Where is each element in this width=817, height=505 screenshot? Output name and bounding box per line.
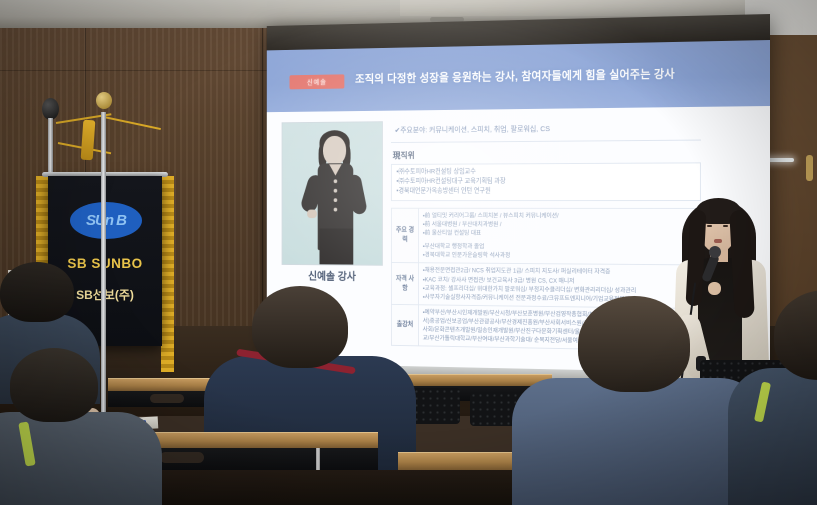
current-position-box: ▪㈜수토피아HR컨설팅 상임교수 ▪㈜수토피아HR컨설팅대구 교육기획팀 과장 … xyxy=(391,162,701,200)
table-row: 주요 경력 ▪前 얼티밋 커리어그룹/ 스피치본 / 뷰스피치 커뮤니케이션/ … xyxy=(391,208,700,265)
audience-head xyxy=(578,296,690,392)
audience-head xyxy=(252,286,348,368)
audience-member xyxy=(752,290,817,505)
portrait-face xyxy=(323,136,346,165)
presenter-eye xyxy=(723,225,728,227)
door-handle xyxy=(806,155,813,181)
presenter-mouth xyxy=(714,239,722,243)
career-line: ▪前 얼티밋 커리어그룹/ 스피치본 / 뷰스피치 커뮤니케이션/ xyxy=(423,211,696,220)
portrait-hand xyxy=(307,210,317,218)
position-item: ▪㈜수토피아HR컨설팅대구 교육기획팀 과장 xyxy=(396,176,695,187)
portrait-caption: 신예솔 강사 xyxy=(282,268,381,284)
position-item: ▪경북대언문가옥송방센터 인턴 연구원 xyxy=(396,187,695,197)
banner-fringe xyxy=(161,176,174,372)
portrait-buttons xyxy=(334,179,338,211)
row-value-career: ▪前 얼티밋 커리어그룹/ 스피치본 / 뷰스피치 커뮤니케이션/ ▪前 서울대… xyxy=(419,208,701,265)
slide-title: 조직의 다정한 성장을 응원하는 강사, 참여자들에게 힘을 실어주는 강사 xyxy=(355,64,750,86)
audience-head xyxy=(10,348,98,422)
audience-head xyxy=(0,262,74,322)
row-label-career: 주요 경력 xyxy=(391,208,418,263)
presenter-eye xyxy=(707,225,712,227)
portrait-skirt xyxy=(319,228,353,264)
flag-finial-gold xyxy=(96,92,112,109)
audience-torso xyxy=(512,378,764,505)
sunbo-logo-icon: SUn B xyxy=(70,202,142,239)
instructor-portrait-photo xyxy=(282,122,381,265)
audience-torso xyxy=(728,368,817,505)
slide-header-band: 신예솔 조직의 다정한 성장을 응원하는 강사, 참여자들에게 힘을 실어주는 … xyxy=(267,40,770,112)
audience-head xyxy=(774,290,817,380)
microphone-head xyxy=(709,246,721,258)
slide-name-badge: 신예솔 xyxy=(290,74,345,89)
logo-wordmark: SUn B xyxy=(86,212,126,229)
wall-seam xyxy=(262,28,263,328)
flag-finial-black xyxy=(42,98,59,120)
career-line: ▪경북대학교 인문가운슬링학 석사과정 xyxy=(423,251,696,262)
audience-member xyxy=(0,348,170,505)
presenter-hand-holding-mic xyxy=(708,282,721,295)
subject-fields-line: ✔주요분야: 커뮤니케이션, 스피치, 취업, 팔로워십, CS xyxy=(391,117,701,143)
screenshot-root: IO 신예솔 조직의 다정한 성장을 응원하는 강사, 참여자들에게 힘을 실어… xyxy=(0,0,817,505)
current-position-heading: 現직위 xyxy=(393,147,701,161)
